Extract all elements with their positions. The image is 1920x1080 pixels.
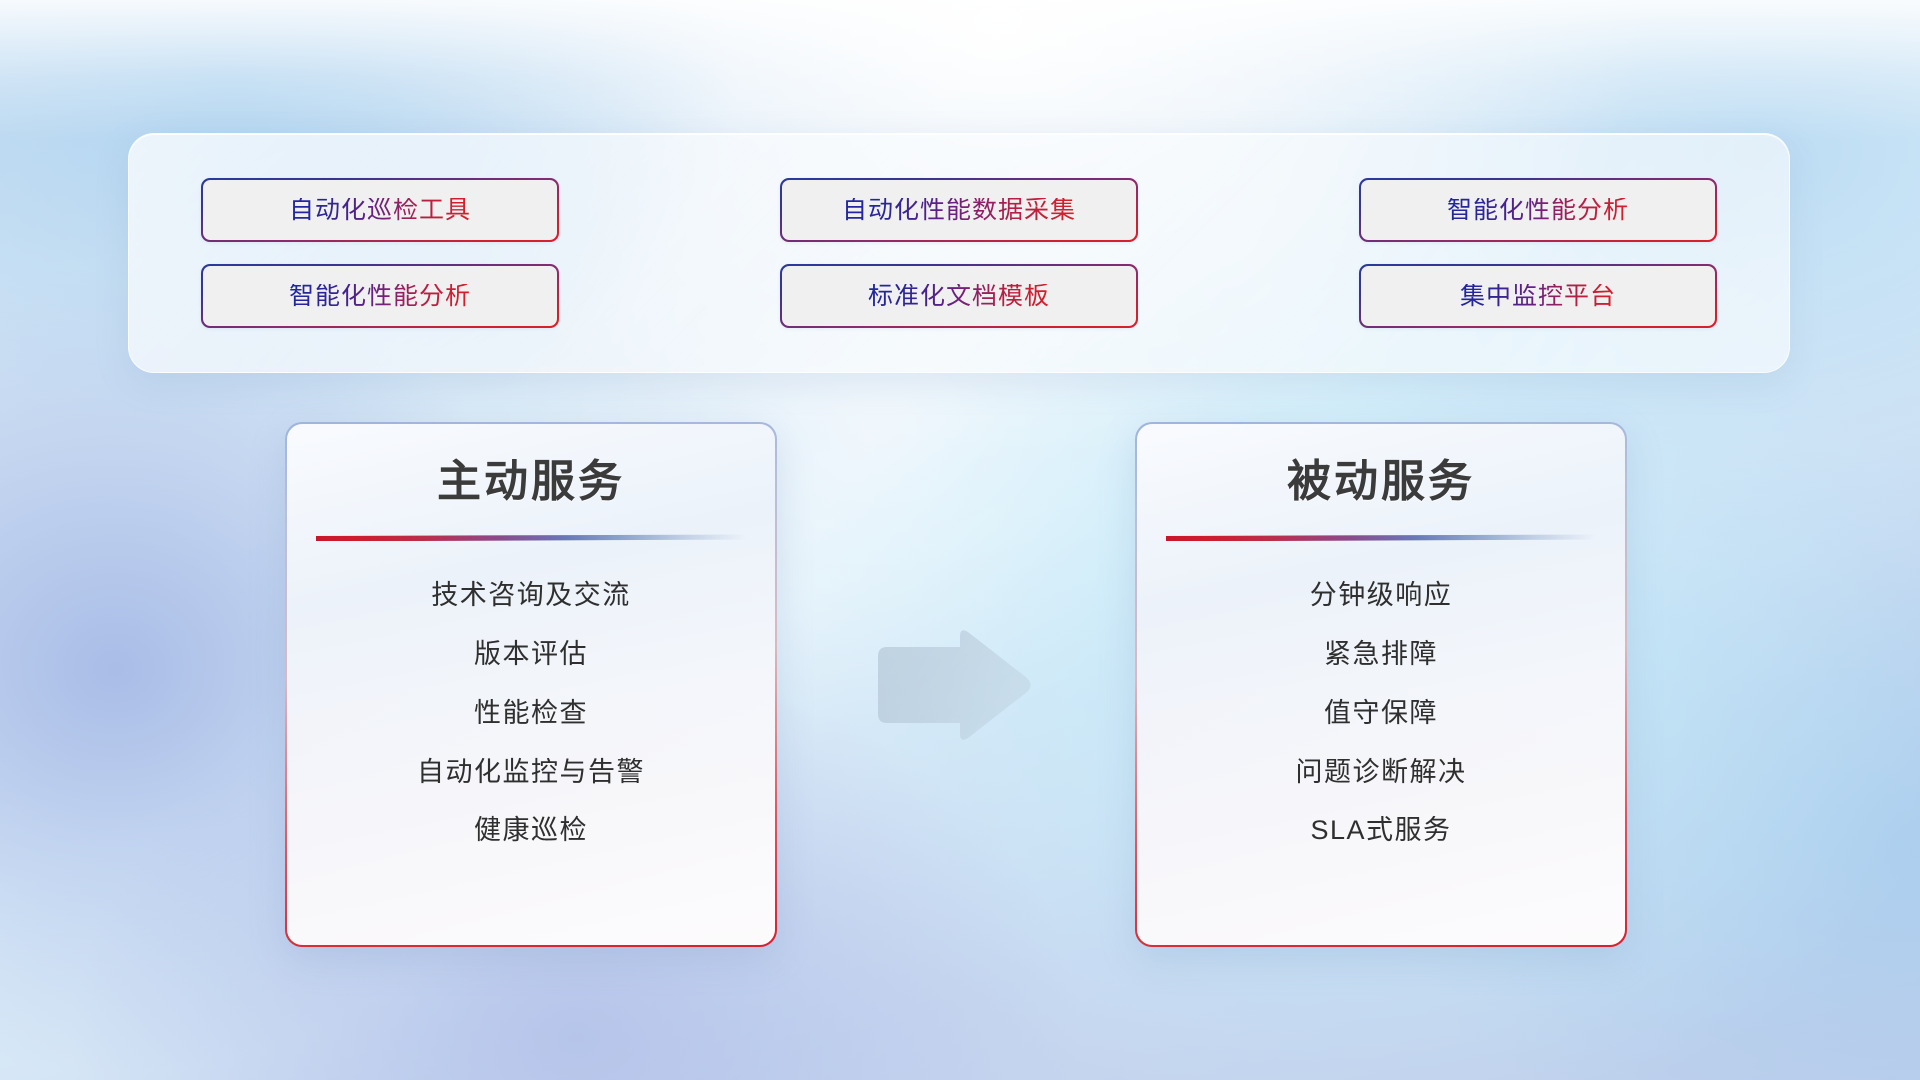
capability-pill-automated-performance-data-collection[interactable]: 自动化性能数据采集 — [780, 178, 1138, 242]
capability-pill-intelligent-performance-analysis-bottom[interactable]: 智能化性能分析 — [201, 264, 559, 328]
service-card-title: 被动服务 — [1287, 456, 1475, 509]
capability-row-2: 智能化性能分析 标准化文档模板 集中监控平台 — [201, 264, 1717, 328]
service-list-item: 值守保障 — [1324, 697, 1438, 731]
service-list-item: 健康巡检 — [474, 814, 588, 848]
capability-pill-intelligent-performance-analysis-top[interactable]: 智能化性能分析 — [1359, 178, 1717, 242]
service-list-item: 紧急排障 — [1324, 638, 1438, 672]
service-card-inner: 被动服务 分钟级响应 紧急排障 值守保障 问题诊断解决 SLA式服务 — [1137, 424, 1626, 946]
service-list-item: 自动化监控与告警 — [417, 756, 645, 790]
capability-pill-label: 集中监控平台 — [1460, 284, 1616, 309]
service-card-inner: 主动服务 技术咨询及交流 版本评估 性能检查 自动化监控与告警 健康巡检 — [287, 424, 776, 946]
capability-pill-label: 自动化性能数据采集 — [842, 198, 1076, 223]
service-list-item: 问题诊断解决 — [1296, 756, 1467, 790]
capability-pill-label: 智能化性能分析 — [1447, 198, 1629, 223]
service-card-list: 技术咨询及交流 版本评估 性能检查 自动化监控与告警 健康巡检 — [287, 579, 776, 848]
service-card-reactive: 被动服务 分钟级响应 紧急排障 值守保障 问题诊断解决 SLA式服务 — [1135, 422, 1627, 947]
service-card-title: 主动服务 — [437, 456, 625, 509]
service-list-item: 性能检查 — [474, 697, 588, 731]
flow-arrow-right-icon — [874, 626, 1034, 744]
capability-pill-label: 智能化性能分析 — [289, 284, 471, 309]
service-list-item: SLA式服务 — [1310, 814, 1451, 848]
capability-pill-standardized-document-template[interactable]: 标准化文档模板 — [780, 264, 1138, 328]
service-card-proactive: 主动服务 技术咨询及交流 版本评估 性能检查 自动化监控与告警 健康巡检 — [285, 422, 777, 947]
capability-panel: 自动化巡检工具 自动化性能数据采集 智能化性能分析 智能化性能分析 标准化文档模… — [128, 133, 1790, 373]
service-card-list: 分钟级响应 紧急排障 值守保障 问题诊断解决 SLA式服务 — [1137, 579, 1626, 848]
capability-pill-label: 标准化文档模板 — [868, 284, 1050, 309]
capability-pill-label: 自动化巡检工具 — [289, 198, 471, 223]
service-list-item: 技术咨询及交流 — [431, 579, 631, 613]
capability-pill-automation-inspection-tool[interactable]: 自动化巡检工具 — [201, 178, 559, 242]
service-card-divider — [1166, 534, 1596, 543]
service-list-item: 版本评估 — [474, 638, 588, 672]
capability-pill-centralized-monitoring-platform[interactable]: 集中监控平台 — [1359, 264, 1717, 328]
capability-row-1: 自动化巡检工具 自动化性能数据采集 智能化性能分析 — [201, 178, 1717, 242]
service-list-item: 分钟级响应 — [1310, 579, 1453, 613]
service-card-divider — [316, 534, 746, 543]
slide-stage: 自动化巡检工具 自动化性能数据采集 智能化性能分析 智能化性能分析 标准化文档模… — [0, 0, 1920, 1080]
